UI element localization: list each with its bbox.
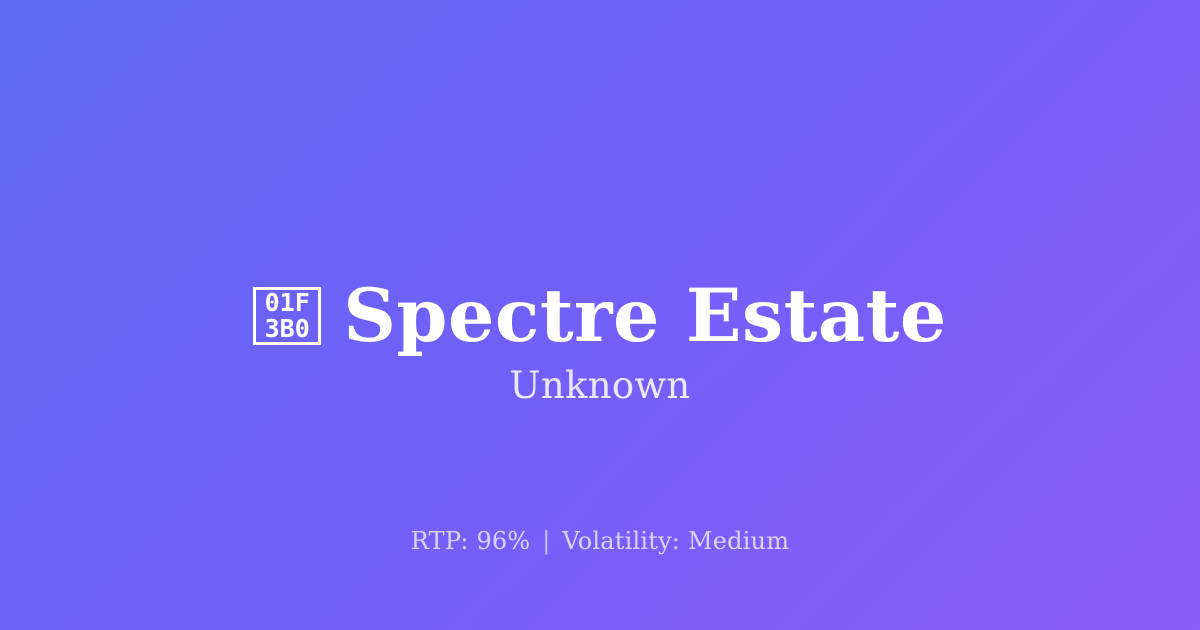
tofu-codepoint-line2: 3B0 (265, 316, 310, 342)
game-meta: RTP: 96% | Volatility: Medium (0, 524, 1200, 558)
volatility-value: Volatility: Medium (562, 527, 789, 555)
tofu-codepoint-line1: 01F (265, 290, 310, 316)
meta-separator: | (538, 527, 554, 555)
rtp-value: RTP: 96% (411, 527, 531, 555)
og-share-card: 01F 3B0 Spectre Estate Unknown RTP: 96% … (0, 0, 1200, 630)
slot-machine-icon: 01F 3B0 (253, 287, 321, 345)
provider-subtitle: Unknown (0, 362, 1200, 410)
page-title: Spectre Estate (343, 274, 947, 358)
